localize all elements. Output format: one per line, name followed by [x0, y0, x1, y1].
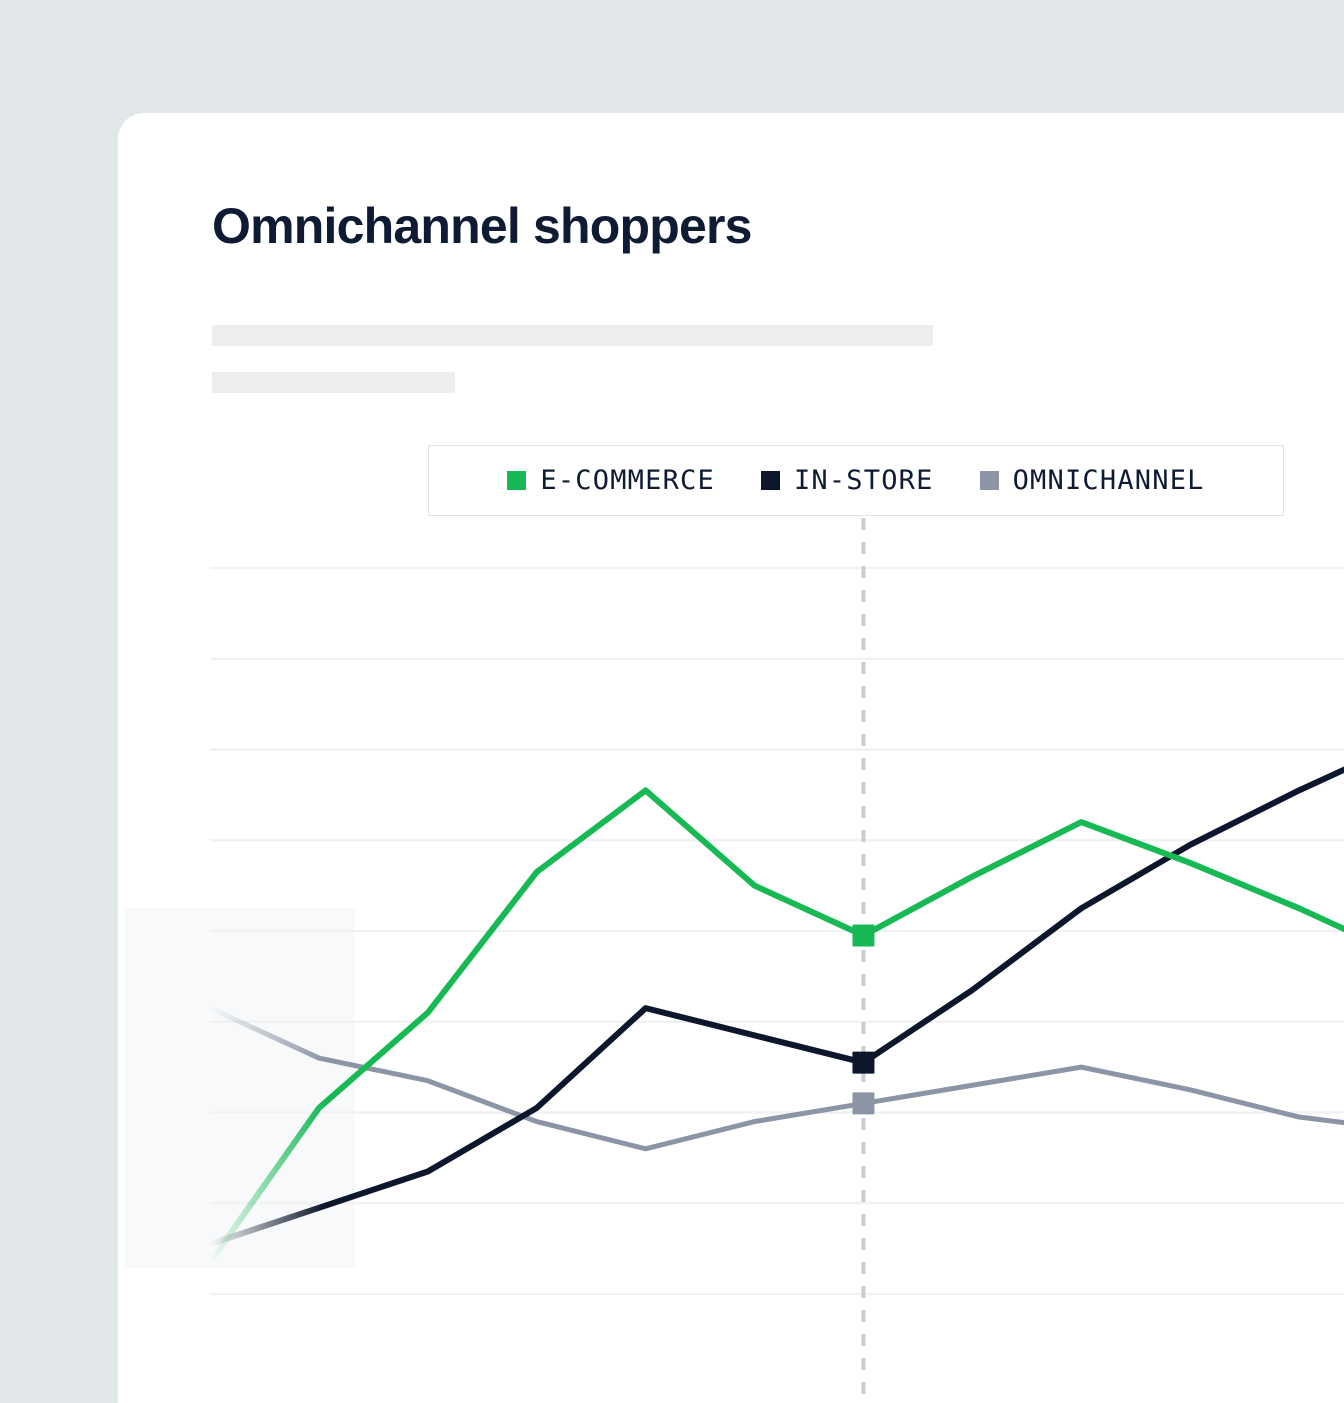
legend-swatch-icon	[761, 471, 780, 490]
series-marker-omnichannel	[852, 1092, 874, 1114]
legend-item-in-store[interactable]: IN-STORE	[738, 467, 957, 494]
chart-side-panel-tint	[125, 908, 355, 1268]
legend-swatch-icon	[507, 471, 526, 490]
legend-swatch-icon	[980, 471, 999, 490]
chart-legend: E-COMMERCE IN-STORE OMNICHANNEL	[428, 445, 1284, 516]
legend-item-label: IN-STORE	[794, 467, 934, 494]
chart-plot-area	[118, 113, 1344, 1403]
series-line-omnichannel	[210, 1008, 1344, 1149]
legend-item-label: E-COMMERCE	[540, 467, 715, 494]
screenshot-root: Omnichannel shoppers E-COMMERCE IN-STORE…	[0, 0, 1344, 1344]
legend-item-omnichannel[interactable]: OMNICHANNEL	[957, 467, 1228, 494]
series-marker-e-commerce	[852, 925, 874, 947]
chart-card: Omnichannel shoppers E-COMMERCE IN-STORE…	[118, 113, 1344, 1403]
series-line-in-store	[210, 740, 1344, 1244]
legend-item-label: OMNICHANNEL	[1013, 467, 1205, 494]
series-marker-in-store	[852, 1052, 874, 1074]
series-line-e-commerce	[210, 790, 1344, 1262]
legend-item-e-commerce[interactable]: E-COMMERCE	[484, 467, 738, 494]
line-chart-svg	[118, 113, 1344, 1403]
